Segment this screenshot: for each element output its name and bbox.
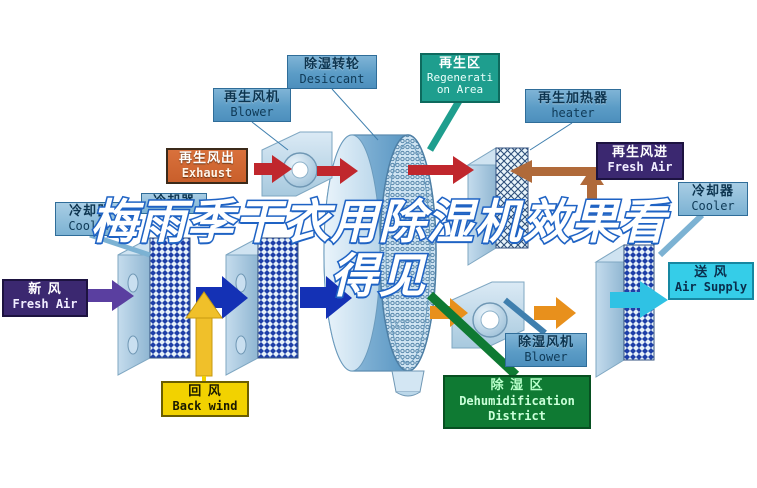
label-blower-dehum-cn: 除湿风机 <box>510 336 582 351</box>
label-regen-heater[interactable]: 再生加热器 heater <box>525 89 621 123</box>
label-regeneration-area-cn: 再生区 <box>426 57 494 72</box>
label-air-supply-en: Air Supply <box>674 281 748 295</box>
label-blower-regen[interactable]: 再生风机 Blower <box>213 88 291 122</box>
label-regeneration-area[interactable]: 再生区 Regenerati on Area <box>420 53 500 103</box>
label-back-wind-cn: 回 风 <box>167 385 243 400</box>
svg-text:XT: XT <box>392 319 409 334</box>
label-cooler-right-cn: 冷却器 <box>683 185 743 200</box>
dehumidifier-schematic-art: XT <box>0 0 757 488</box>
label-cooler-right-en: Cooler <box>683 200 743 214</box>
diagram-canvas: XT <box>0 0 757 488</box>
label-regen-fresh-air-in-en: Fresh Air <box>602 161 678 175</box>
label-dehumidification-district-en: Dehumidification District <box>449 394 585 424</box>
label-back-wind-en: Back wind <box>167 400 243 414</box>
label-regeneration-area-en: Regenerati on Area <box>426 72 494 96</box>
label-exhaust-cn: 再生风出 <box>172 152 242 167</box>
label-desiccant-en: Desiccant <box>292 73 372 87</box>
label-cooler-mid-cn: 冷却器 <box>144 195 204 210</box>
label-exhaust[interactable]: 再生风出 Exhaust <box>166 148 248 184</box>
cooler-coil-left <box>118 238 190 375</box>
label-fresh-air-inlet-en: Fresh Air <box>8 298 82 312</box>
label-blower-regen-cn: 再生风机 <box>218 91 286 106</box>
label-dehumidification-district-cn: 除 湿 区 <box>449 379 585 394</box>
label-cooler-left[interactable]: 冷却器 Cooler <box>55 202 125 236</box>
label-cooler-mid[interactable]: 冷却器 <box>141 193 207 214</box>
label-desiccant[interactable]: 除湿转轮 Desiccant <box>287 55 377 89</box>
label-cooler-left-en: Cooler <box>60 220 120 234</box>
label-back-wind[interactable]: 回 风 Back wind <box>161 381 249 417</box>
label-exhaust-en: Exhaust <box>172 167 242 181</box>
label-blower-regen-en: Blower <box>218 106 286 120</box>
label-air-supply[interactable]: 送 风 Air Supply <box>668 262 754 300</box>
label-regen-heater-cn: 再生加热器 <box>530 92 616 107</box>
label-blower-dehum[interactable]: 除湿风机 Blower <box>505 333 587 367</box>
regen-heater-coil <box>468 148 528 265</box>
label-cooler-left-cn: 冷却器 <box>60 205 120 220</box>
label-cooler-right[interactable]: 冷却器 Cooler <box>678 182 748 216</box>
label-fresh-air-inlet-cn: 新 风 <box>8 283 82 298</box>
label-fresh-air-inlet[interactable]: 新 风 Fresh Air <box>2 279 88 317</box>
label-regen-fresh-air-in[interactable]: 再生风进 Fresh Air <box>596 142 684 180</box>
label-desiccant-cn: 除湿转轮 <box>292 58 372 73</box>
label-dehumidification-district[interactable]: 除 湿 区 Dehumidification District <box>443 375 591 429</box>
label-air-supply-cn: 送 风 <box>674 266 748 281</box>
label-regen-fresh-air-in-cn: 再生风进 <box>602 146 678 161</box>
label-blower-dehum-en: Blower <box>510 351 582 365</box>
label-regen-heater-en: heater <box>530 107 616 121</box>
dehum-out-arrow-2 <box>534 297 576 329</box>
